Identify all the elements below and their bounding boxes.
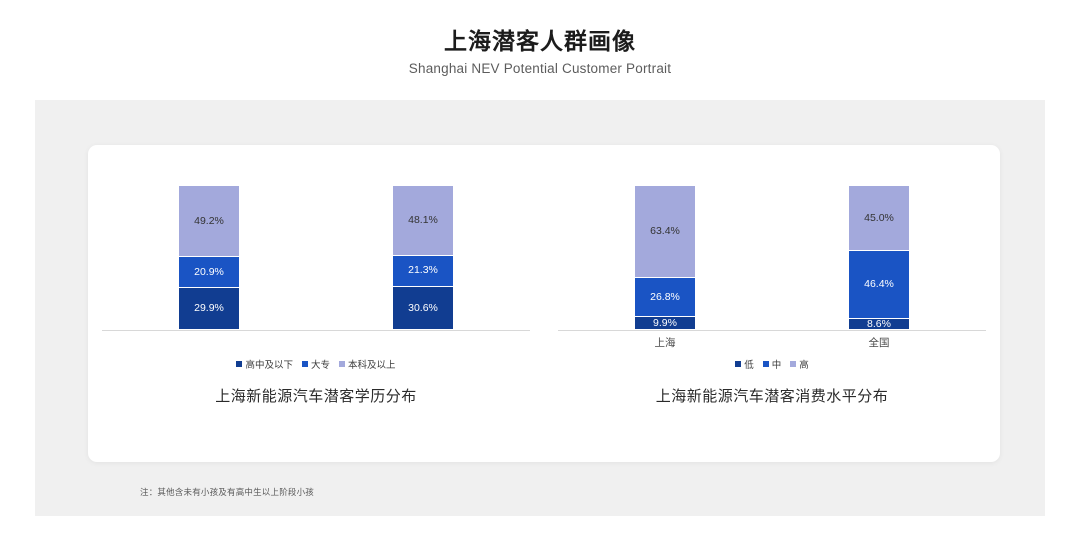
- legend-swatch-icon: [735, 361, 741, 367]
- charts-container: 49.2%20.9%29.9%48.1%21.3%30.6%高中及以下大专本科及…: [88, 145, 1000, 462]
- bar-segment[interactable]: 45.0%: [848, 185, 910, 250]
- stacked-bar[interactable]: 49.2%20.9%29.9%: [178, 185, 240, 330]
- legend-label: 本科及以上: [348, 357, 396, 371]
- legend-label: 低: [744, 357, 754, 371]
- page-subtitle: Shanghai NEV Potential Customer Portrait: [0, 58, 1080, 80]
- bar-segment[interactable]: 9.9%: [634, 316, 696, 330]
- chart-caption: 上海新能源汽车潜客学历分布: [88, 385, 544, 406]
- bar-segment[interactable]: 8.6%: [848, 318, 910, 330]
- bar-value-label: 8.6%: [867, 319, 891, 330]
- bar-segment[interactable]: 29.9%: [178, 287, 240, 330]
- x-tick-label: [178, 335, 240, 353]
- x-axis-line: [102, 330, 530, 331]
- bar-value-label: 26.8%: [650, 292, 680, 303]
- chart-card: 49.2%20.9%29.9%48.1%21.3%30.6%高中及以下大专本科及…: [88, 145, 1000, 462]
- bar-segment[interactable]: 21.3%: [392, 255, 454, 286]
- page-title: 上海潜客人群画像: [0, 26, 1080, 56]
- chart-1: 49.2%20.9%29.9%48.1%21.3%30.6%高中及以下大专本科及…: [88, 145, 544, 462]
- bar-value-label: 21.3%: [408, 265, 438, 276]
- bar-group: 63.4%26.8%9.9%45.0%46.4%8.6%: [558, 185, 986, 330]
- chart-legend: 低中高: [544, 357, 1000, 371]
- bar-segment[interactable]: 20.9%: [178, 256, 240, 286]
- legend-swatch-icon: [302, 361, 308, 367]
- legend-item[interactable]: 本科及以上: [339, 357, 396, 371]
- plot-area: 49.2%20.9%29.9%48.1%21.3%30.6%: [102, 185, 530, 330]
- plot-area: 63.4%26.8%9.9%45.0%46.4%8.6%: [558, 185, 986, 330]
- legend-swatch-icon: [790, 361, 796, 367]
- legend-item[interactable]: 高: [790, 357, 809, 371]
- bar-value-label: 29.9%: [194, 303, 224, 314]
- bar-value-label: 45.0%: [864, 213, 894, 224]
- bar-value-label: 20.9%: [194, 267, 224, 278]
- chart-legend: 高中及以下大专本科及以上: [88, 357, 544, 371]
- bar-segment[interactable]: 30.6%: [392, 286, 454, 330]
- page-header: 上海潜客人群画像 Shanghai NEV Potential Customer…: [0, 26, 1080, 80]
- bar-value-label: 9.9%: [653, 318, 677, 329]
- legend-label: 中: [772, 357, 782, 371]
- x-axis-ticks: [102, 335, 530, 353]
- bar-segment[interactable]: 49.2%: [178, 185, 240, 256]
- page-root: 上海潜客人群画像 Shanghai NEV Potential Customer…: [0, 0, 1080, 547]
- bar-value-label: 46.4%: [864, 279, 894, 290]
- bar-group: 49.2%20.9%29.9%48.1%21.3%30.6%: [102, 185, 530, 330]
- chart-2: 63.4%26.8%9.9%45.0%46.4%8.6%上海全国低中高上海新能源…: [544, 145, 1000, 462]
- bar-value-label: 48.1%: [408, 215, 438, 226]
- legend-swatch-icon: [763, 361, 769, 367]
- chart-caption: 上海新能源汽车潜客消费水平分布: [544, 385, 1000, 406]
- bar-segment[interactable]: 63.4%: [634, 185, 696, 277]
- stacked-bar[interactable]: 45.0%46.4%8.6%: [848, 185, 910, 330]
- footnote-text: 注：其他含未有小孩及有高中生以上阶段小孩: [140, 486, 314, 498]
- legend-item[interactable]: 中: [763, 357, 782, 371]
- bar-value-label: 30.6%: [408, 303, 438, 314]
- bar-segment[interactable]: 46.4%: [848, 250, 910, 317]
- legend-swatch-icon: [236, 361, 242, 367]
- legend-label: 高中及以下: [245, 357, 293, 371]
- stacked-bar[interactable]: 48.1%21.3%30.6%: [392, 185, 454, 330]
- x-axis-ticks: 上海全国: [558, 335, 986, 353]
- legend-item[interactable]: 低: [735, 357, 754, 371]
- legend-label: 高: [799, 357, 809, 371]
- bar-segment[interactable]: 26.8%: [634, 277, 696, 316]
- x-tick-label: [392, 335, 454, 353]
- x-axis-line: [558, 330, 986, 331]
- bar-segment[interactable]: 48.1%: [392, 185, 454, 255]
- legend-item[interactable]: 大专: [302, 357, 330, 371]
- x-tick-label: 上海: [634, 335, 696, 353]
- x-tick-label: 全国: [848, 335, 910, 353]
- legend-label: 大专: [311, 357, 330, 371]
- stacked-bar[interactable]: 63.4%26.8%9.9%: [634, 185, 696, 330]
- bar-value-label: 63.4%: [650, 226, 680, 237]
- legend-item[interactable]: 高中及以下: [236, 357, 293, 371]
- legend-swatch-icon: [339, 361, 345, 367]
- bar-value-label: 49.2%: [194, 216, 224, 227]
